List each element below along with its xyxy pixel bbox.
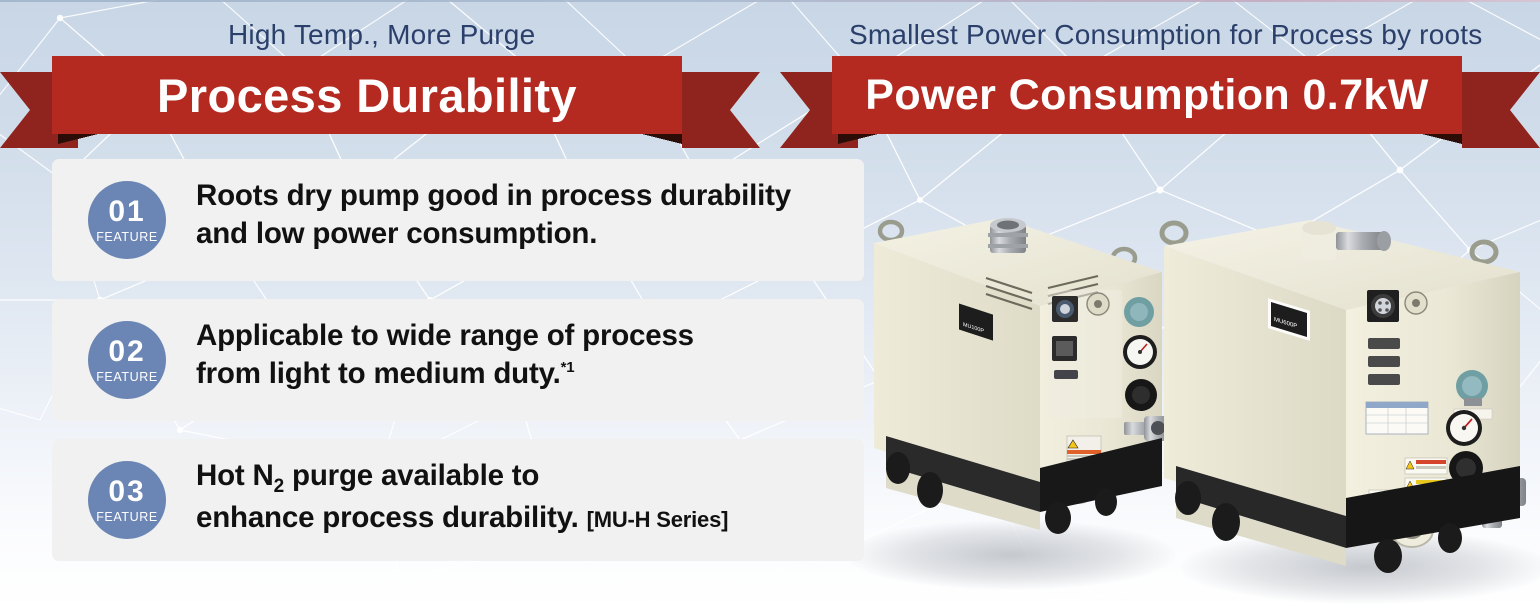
feature-line-1-post: purge available to: [284, 459, 539, 492]
feature-card-02: 02 FEATURE Applicable to wide range of p…: [52, 299, 864, 421]
feature-number: 01: [108, 197, 145, 227]
feature-footnote-marker: *1: [561, 359, 575, 376]
rotary-selector: [1087, 293, 1109, 315]
feature-line-2-row: from light to medium duty.*1: [196, 355, 850, 393]
ribbon-tail-right: [1462, 72, 1540, 148]
ribbon-title-right: Power Consumption 0.7kW: [865, 74, 1428, 117]
feature-caption: FEATURE: [96, 231, 158, 244]
ribbon-title-left: Process Durability: [157, 72, 577, 119]
power-connector: [1052, 296, 1078, 322]
feature-line-1: Roots dry pump good in process durabilit…: [196, 177, 850, 215]
ribbon-process-durability: Process Durability: [0, 56, 760, 148]
pump-small-illustration: MU100P: [862, 200, 1172, 570]
feature-badge-03: 03 FEATURE: [88, 461, 166, 539]
feature-line-2: enhance process durability.: [196, 501, 579, 534]
feature-badge-01: 01 FEATURE: [88, 181, 166, 259]
feature-caption: FEATURE: [96, 371, 158, 384]
feature-text-02: Applicable to wide range of process from…: [196, 317, 850, 393]
spec-label-table: [1366, 402, 1428, 434]
feature-card-01: 01 FEATURE Roots dry pump good in proces…: [52, 159, 864, 281]
feature-number: 03: [108, 477, 145, 507]
feature-line-1: Applicable to wide range of process: [196, 317, 850, 355]
feature-series-tag: [MU-H Series]: [587, 507, 729, 532]
feature-line-1-pre: Hot N: [196, 459, 274, 492]
top-divider-rule: [0, 0, 1540, 2]
feature-line-1-subscript: 2: [274, 476, 284, 497]
feature-caption: FEATURE: [96, 511, 158, 524]
feature-card-03: 03 FEATURE Hot N2 purge available to enh…: [52, 439, 864, 561]
feature-banner-stage: High Temp., More Purge Process Durabilit…: [0, 0, 1540, 611]
feature-badge-02: 02 FEATURE: [88, 321, 166, 399]
feature-number: 02: [108, 337, 145, 367]
product-image-pump-small: MU100P: [862, 200, 1172, 570]
pump-large-illustration: MU600P: [1150, 200, 1540, 592]
banner-kicker-left: High Temp., More Purge: [228, 21, 535, 49]
power-connector: [1367, 290, 1399, 322]
ribbon-tail-right: [682, 72, 760, 148]
feature-line-1-row: Hot N2 purge available to: [196, 457, 850, 499]
feature-line-2: and low power consumption.: [196, 215, 850, 253]
feature-text-03: Hot N2 purge available to enhance proces…: [196, 457, 850, 537]
ribbon-bar-right: Power Consumption 0.7kW: [832, 56, 1462, 134]
pressure-gauge: [1446, 410, 1482, 446]
communication-port: [1052, 336, 1078, 379]
feature-line-2: from light to medium duty.: [196, 357, 561, 390]
banner-kicker-right: Smallest Power Consumption for Process b…: [849, 21, 1482, 49]
product-image-pump-large: MU600P: [1150, 200, 1540, 592]
feature-text-01: Roots dry pump good in process durabilit…: [196, 177, 850, 253]
rotary-selector: [1405, 292, 1427, 314]
ribbon-bar-left: Process Durability: [52, 56, 682, 134]
ribbon-power-consumption: Power Consumption 0.7kW: [780, 56, 1540, 148]
serial-ports: [1368, 338, 1400, 385]
inlet-flange: [988, 218, 1028, 253]
feature-line-2-row: enhance process durability. [MU-H Series…: [196, 499, 850, 537]
